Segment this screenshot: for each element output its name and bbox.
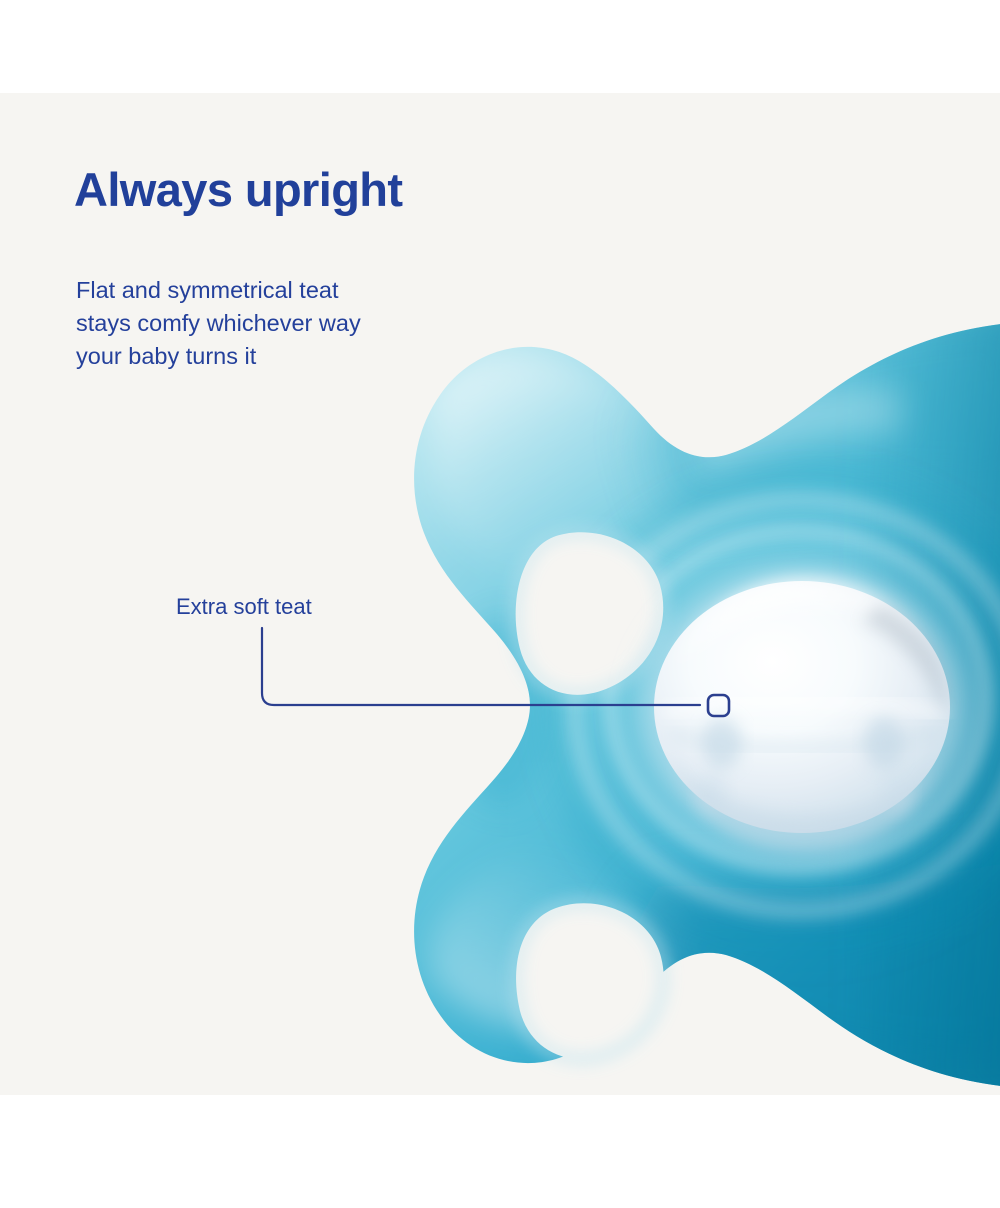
pacifier-illustration (0, 93, 1000, 1095)
body-line: stays comfy whichever way (76, 307, 496, 340)
content-panel: Always upright Flat and symmetrical teat… (0, 93, 1000, 1095)
body-line: Flat and symmetrical teat (76, 274, 496, 307)
page-title: Always upright (74, 165, 402, 214)
product-feature-panel: Always upright Flat and symmetrical teat… (0, 0, 1000, 1208)
body-copy: Flat and symmetrical teat stays comfy wh… (76, 274, 496, 373)
pacifier-teat (640, 569, 972, 853)
callout-label-extra-soft-teat: Extra soft teat (176, 593, 312, 621)
body-line: your baby turns it (76, 340, 496, 373)
